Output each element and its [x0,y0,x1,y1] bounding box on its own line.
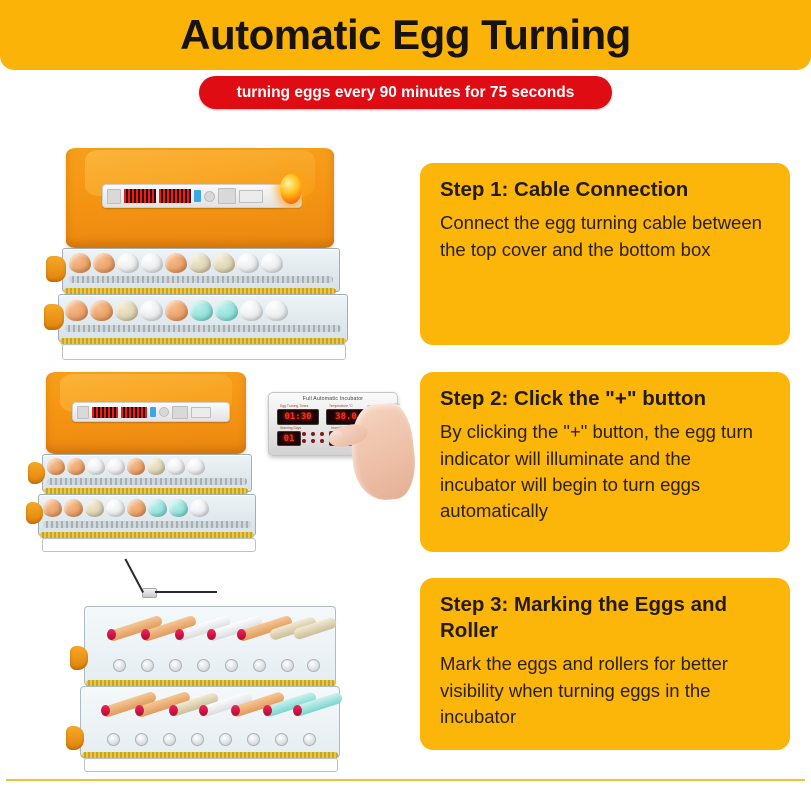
incubator-closed-photo [40,148,370,363]
egg [90,300,113,321]
egg-mark [199,705,208,716]
egg-mark [175,629,184,640]
cable-plug [142,588,157,598]
panel-led-1 [124,189,156,203]
egg [47,458,65,475]
egg [215,300,238,321]
step-card-3: Step 3: Marking the Eggs and Roller Mark… [420,578,790,750]
egg [67,458,85,475]
tray-wire-frame [42,538,256,552]
incubator-tray-lower [38,494,256,536]
roller-cog [219,733,232,746]
controller-value-warning-days: 01 [277,431,301,446]
lid-control-panel [102,184,302,208]
roller-cog [197,659,210,672]
pointing-hand [347,401,419,503]
status-dot [302,432,306,436]
incubator-tray-upper [62,248,340,292]
roller-cog [163,733,176,746]
step-1-body: Connect the egg turning cable between th… [440,210,772,263]
roller-cog [303,733,316,746]
tray-wire-frame [84,758,338,772]
panel-button-left [107,189,121,204]
roller-cog [247,733,260,746]
incubator-tray-upper [42,454,252,492]
subtitle-badge-label: turning eggs every 90 minutes for 75 sec… [237,84,575,102]
subtitle-badge: turning eggs every 90 minutes for 75 sec… [199,76,612,109]
egg [64,499,83,517]
roller-cog [281,659,294,672]
roller-cog [191,733,204,746]
egg [190,499,209,517]
tray-knob-lower [66,726,84,750]
egg-tray-marked-photo [60,588,380,773]
panel-button-left [77,406,89,419]
step-card-1: Step 1: Cable Connection Connect the egg… [420,163,790,345]
incubator-lid [46,372,246,454]
tray-upper [84,606,336,686]
header-banner: Automatic Egg Turning [0,0,811,70]
roller-cog [141,659,154,672]
egg [43,499,62,517]
egg [65,300,88,321]
egg-mark [101,705,110,716]
incubator-with-controller-photo [28,372,268,564]
egg-mark [231,705,240,716]
egg-row-lower [65,300,341,321]
egg-row-upper [47,458,247,475]
egg [106,499,125,517]
egg-mark [169,705,178,716]
panel-grill [172,406,188,419]
egg-mark [141,629,150,640]
egg [240,300,263,321]
egg-mark [293,705,302,716]
panel-button-right [191,407,211,418]
egg [165,253,187,273]
egg-row-lower [43,499,250,517]
controller-label-temperature: Temperature °C [329,404,353,408]
egg [127,458,145,475]
tray-knob-upper [70,646,88,670]
egg-mark [107,629,116,640]
egg-row-upper [69,253,334,273]
page-title: Automatic Egg Turning [180,14,631,56]
roller-cog [225,659,238,672]
roller-gear-strip [43,521,250,528]
egg [107,458,125,475]
status-dot [302,439,306,443]
panel-dial [159,407,169,417]
roller-gear-strip [47,478,247,485]
step-3-title: Step 3: Marking the Eggs and Roller [440,592,772,644]
panel-grill [218,188,236,204]
step-2-body: By clicking the "+" button, the egg turn… [440,419,772,524]
egg [265,300,288,321]
roller-cog [275,733,288,746]
lid-control-panel [72,402,230,422]
egg [87,458,105,475]
incubator-tray-lower [58,294,348,342]
panel-led-1 [92,407,118,418]
egg [127,499,146,517]
panel-dial [204,191,215,202]
tray-knob-lower [44,304,64,330]
egg-mark [207,629,216,640]
egg [189,253,211,273]
roller-cog [113,659,126,672]
tray-knob-upper [46,256,66,282]
egg-mark [135,705,144,716]
controller-label-warning-days: Warning Days [280,426,301,430]
roller-gear-strip [65,325,341,332]
step-card-2: Step 2: Click the "+" button By clicking… [420,372,790,552]
egg [213,253,235,273]
step-1-title: Step 1: Cable Connection [440,177,772,203]
roller-cog [253,659,266,672]
status-dot [311,439,315,443]
egg [237,253,259,273]
tray-lower [80,686,340,758]
egg [169,499,188,517]
egg-mark [263,705,272,716]
egg [148,499,167,517]
egg [93,253,115,273]
status-dot [311,432,315,436]
egg [69,253,91,273]
panel-led-2 [121,407,147,418]
egg [187,458,205,475]
egg [117,253,139,273]
roller-cog [169,659,182,672]
egg [190,300,213,321]
roller-gear-strip [69,276,334,283]
egg [261,253,283,273]
egg-turning-cable [155,591,217,593]
roller-cog [307,659,320,672]
egg [115,300,138,321]
tray-wire-frame [62,344,346,360]
egg [140,300,163,321]
status-dot [320,439,324,443]
controller-label-egg-turning-times: Egg Turning Times [280,404,308,408]
step-2-title: Step 2: Click the "+" button [440,386,772,412]
roller-cog [107,733,120,746]
roller-cog [135,733,148,746]
indicator-lamp-icon [280,174,302,204]
egg-mark [237,629,246,640]
egg [141,253,163,273]
controller-brand-label: Full Automatic Incubator [269,396,397,402]
status-dot [320,432,324,436]
panel-button-right [239,190,263,203]
egg [147,458,165,475]
controller-value-egg-turning-times: 01:30 [277,409,319,425]
egg [85,499,104,517]
panel-blue-key [194,190,201,202]
egg [167,458,185,475]
panel-blue-key [150,407,156,417]
step-3-body: Mark the eggs and rollers for better vis… [440,651,772,730]
bottom-divider [6,779,805,781]
panel-led-2 [159,189,191,203]
incubator-lid [66,148,334,248]
egg [165,300,188,321]
